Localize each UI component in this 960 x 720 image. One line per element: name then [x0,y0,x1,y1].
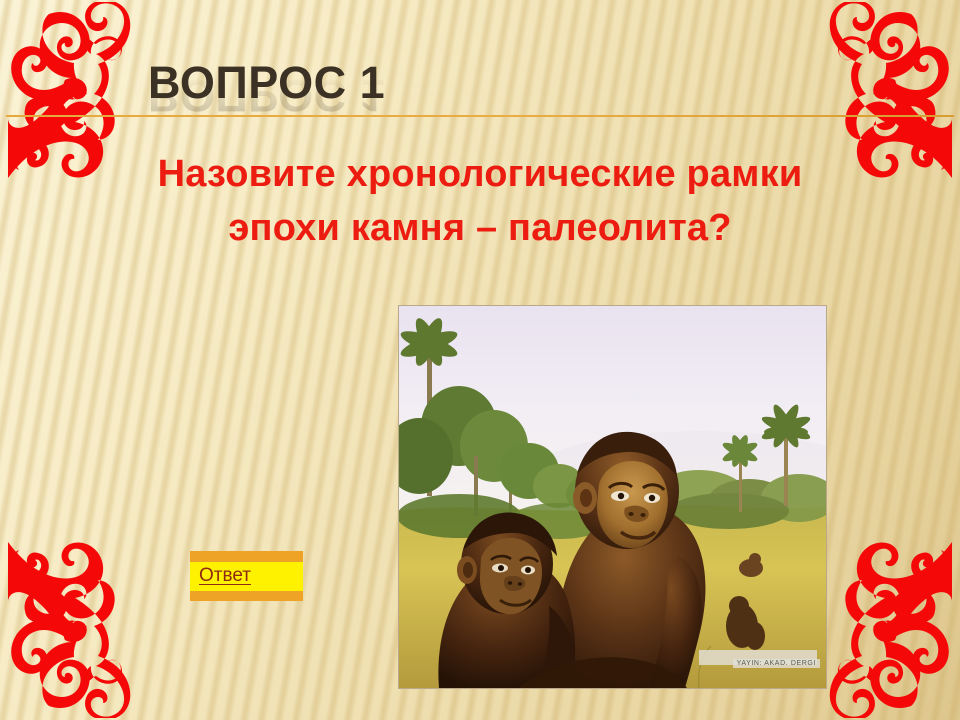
presentation-slide: ВОПРОС 1 ВОПРОС 1 Назовите хронологическ… [0,0,960,720]
question-text: Назовите хронологические рамки эпохи кам… [88,148,872,256]
illustration-image: YAYIN: AKAD. DERGI [398,305,827,689]
answer-button[interactable]: Ответ [190,551,303,601]
image-watermark-caption: YAYIN: AKAD. DERGI [733,659,820,668]
page-title: ВОПРОС 1 [148,60,385,105]
question-line-2: эпохи камня – палеолита? [88,202,872,256]
answer-button-label[interactable]: Ответ [190,565,251,587]
question-line-1: Назовите хронологические рамки [88,148,872,202]
corner-ornament-bottom-left-icon [8,538,178,718]
slide-header [0,54,960,140]
title-divider-rule [6,115,954,117]
